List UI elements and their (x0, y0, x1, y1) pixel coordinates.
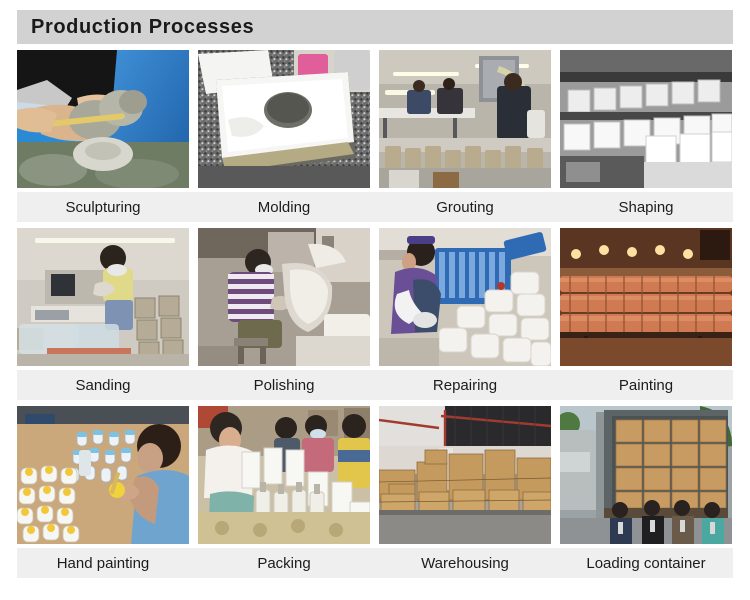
process-image-sanding (17, 228, 189, 366)
process-cell-sculpturing[interactable] (17, 50, 189, 188)
process-cell-shaping[interactable] (560, 50, 732, 188)
process-image-repairing (379, 228, 551, 366)
process-image-sculpturing (17, 50, 189, 188)
process-cell-sanding[interactable] (17, 228, 189, 366)
process-image-shaping (560, 50, 732, 188)
process-image-hand-painting (17, 406, 189, 544)
process-cell-painting[interactable] (560, 228, 732, 366)
process-cell-polishing[interactable] (198, 228, 370, 366)
process-row (17, 406, 733, 544)
caption-band-row3: Hand painting Packing Warehousing Loadin… (17, 548, 733, 578)
process-image-grouting (379, 50, 551, 188)
production-processes-page: Production Processes (0, 0, 750, 600)
process-image-packing (198, 406, 370, 544)
process-image-molding (198, 50, 370, 188)
caption-band-row1: Sculpturing Molding Grouting Shaping (17, 192, 733, 222)
process-label-loading-container: Loading container (560, 548, 732, 578)
process-row (17, 50, 733, 188)
process-image-painting (560, 228, 732, 366)
process-row (17, 228, 733, 366)
process-cell-molding[interactable] (198, 50, 370, 188)
process-cell-warehousing[interactable] (379, 406, 551, 544)
process-label-painting: Painting (560, 370, 732, 400)
process-label-grouting: Grouting (379, 192, 551, 222)
process-label-polishing: Polishing (198, 370, 370, 400)
process-label-shaping: Shaping (560, 192, 732, 222)
process-label-warehousing: Warehousing (379, 548, 551, 578)
process-label-sculpturing: Sculpturing (17, 192, 189, 222)
process-label-repairing: Repairing (379, 370, 551, 400)
caption-band-row2: Sanding Polishing Repairing Painting (17, 370, 733, 400)
process-cell-loading-container[interactable] (560, 406, 732, 544)
process-cell-hand-painting[interactable] (17, 406, 189, 544)
process-image-warehousing (379, 406, 551, 544)
process-image-polishing (198, 228, 370, 366)
process-label-hand-painting: Hand painting (17, 548, 189, 578)
process-image-loading-container (560, 406, 732, 544)
process-cell-repairing[interactable] (379, 228, 551, 366)
process-label-sanding: Sanding (17, 370, 189, 400)
process-cell-packing[interactable] (198, 406, 370, 544)
process-label-packing: Packing (198, 548, 370, 578)
process-label-molding: Molding (198, 192, 370, 222)
page-header: Production Processes (17, 10, 733, 44)
process-grid: Sculpturing Molding Grouting Shaping (17, 50, 733, 584)
page-title: Production Processes (17, 17, 254, 37)
process-cell-grouting[interactable] (379, 50, 551, 188)
